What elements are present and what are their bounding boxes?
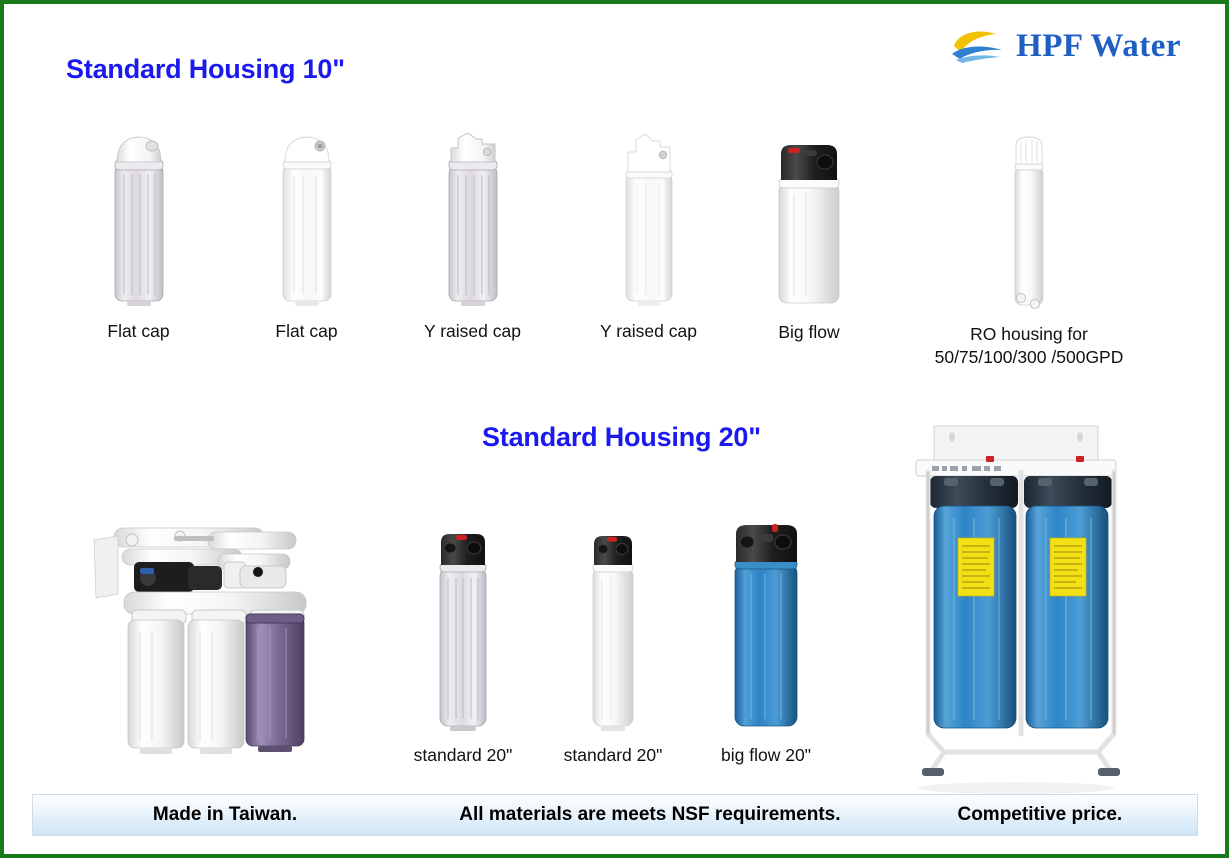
blue-big-flow-housing-20-icon	[725, 516, 807, 736]
product-standard-20-white[interactable]: standard 20"	[552, 526, 674, 767]
product-label: standard 20"	[564, 744, 663, 767]
white-housing-flat-cap-icon	[276, 132, 338, 312]
clear-housing-flat-cap-icon	[108, 132, 170, 312]
product-label-line2: 50/75/100/300 /500GPD	[935, 347, 1124, 367]
product-white-y-raised-cap[interactable]: Y raised cap	[576, 130, 721, 343]
section-heading-10: Standard Housing 10"	[66, 54, 345, 85]
product-label: Big flow	[778, 321, 839, 344]
product-label: Y raised cap	[600, 320, 697, 343]
product-big-flow[interactable]: Big flow	[744, 132, 874, 344]
product-ro-housing[interactable]: RO housing for50/75/100/300 /500GPD	[914, 132, 1144, 369]
product-label: Flat cap	[275, 320, 337, 343]
wave-swoosh-icon	[948, 26, 1012, 66]
big-flow-housing-icon	[772, 132, 846, 313]
product-label: Flat cap	[107, 320, 169, 343]
bottom-banner: Made in Taiwan. All materials are meets …	[32, 794, 1198, 836]
white-housing-y-raised-cap-icon	[618, 130, 680, 312]
clear-housing-20-icon	[428, 526, 498, 736]
banner-item-made-in-taiwan: Made in Taiwan.	[33, 804, 417, 826]
brand-logo: HPF Water	[948, 26, 1181, 66]
product-white-flat-cap[interactable]: Flat cap	[234, 132, 379, 343]
product-label: big flow 20"	[721, 744, 811, 767]
product-ro-system-assembly[interactable]	[82, 522, 322, 765]
product-clear-y-raised-cap[interactable]: Y raised cap	[400, 130, 545, 343]
product-standard-20-clear[interactable]: standard 20"	[402, 526, 524, 767]
product-label: Y raised cap	[424, 320, 521, 343]
ro-system-assembly-icon	[88, 522, 316, 765]
clear-housing-y-raised-cap-icon	[442, 130, 504, 312]
ro-membrane-housing-icon	[1005, 132, 1053, 315]
product-clear-flat-cap[interactable]: Flat cap	[66, 132, 211, 343]
slide-page: HPF Water Standard Housing 10" Standard …	[0, 0, 1229, 858]
brand-name: HPF Water	[1016, 28, 1181, 65]
banner-item-price: Competitive price.	[883, 804, 1197, 826]
product-label-line1: RO housing for	[970, 324, 1088, 344]
banner-item-nsf: All materials are meets NSF requirements…	[417, 804, 883, 826]
product-label: standard 20"	[414, 744, 513, 767]
product-label: RO housing for50/75/100/300 /500GPD	[914, 323, 1144, 369]
dual-big-blue-housing-stand-icon	[904, 422, 1128, 799]
white-housing-20-icon	[578, 526, 648, 736]
product-dual-big-blue-stand[interactable]	[902, 422, 1130, 799]
product-big-flow-20-blue[interactable]: big flow 20"	[700, 516, 832, 767]
section-heading-20: Standard Housing 20"	[482, 422, 761, 453]
